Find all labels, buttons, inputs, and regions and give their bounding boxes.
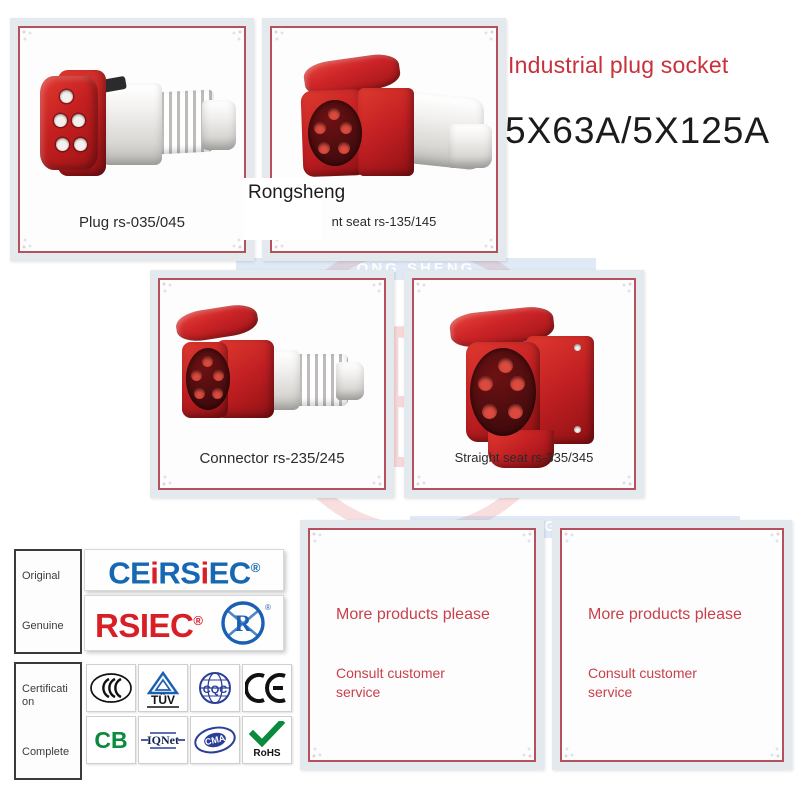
corner-ornament-icon — [311, 531, 327, 547]
promo-headline: More products please — [588, 606, 742, 624]
corner-ornament-icon — [367, 471, 383, 487]
spec-rating: 5X63A/5X125A — [505, 110, 770, 152]
cqc-mark-icon: CQC — [193, 668, 237, 708]
cert-mark-tuv: TÜV — [138, 664, 188, 712]
corner-ornament-icon — [161, 471, 177, 487]
product-card-frame: Plug rs-035/045 — [18, 26, 246, 253]
certification-tag-line-1: Certificati on — [16, 683, 80, 709]
ce-mark-icon — [245, 671, 289, 705]
cert-mark-rohs: RoHS — [242, 716, 292, 764]
authenticity-tag-line-1: Original — [16, 570, 60, 583]
promo-subline: Consult customer service — [588, 664, 738, 702]
corner-ornament-icon — [21, 234, 37, 250]
corner-ornament-icon — [311, 743, 327, 759]
brand-logo-ceirsiec: CEiRSiEC® — [84, 549, 284, 591]
certification-tag: Certificati on Complete — [14, 662, 82, 780]
product-caption-straight-seat: Straight seat rs-335/345 — [414, 450, 634, 465]
promo-card-frame: More products please Consult customer se… — [560, 528, 784, 762]
brand-logo-ceirsiec-text: CEiRSiEC® — [108, 552, 260, 588]
cert-mark-cb: CB — [86, 716, 136, 764]
product-card-connector[interactable]: Connector rs-235/245 — [150, 270, 394, 498]
tuv-mark-icon: TÜV — [141, 667, 185, 709]
cert-mark-cqc: CQC — [190, 664, 240, 712]
corner-ornament-icon — [415, 281, 431, 297]
rsiec-circular-logo-icon: R ® — [216, 598, 272, 648]
corner-ornament-icon — [563, 743, 579, 759]
svg-text:IQNet: IQNet — [147, 733, 179, 747]
corner-ornament-icon — [415, 471, 431, 487]
corner-ornament-icon — [273, 29, 289, 45]
corner-ornament-icon — [479, 29, 495, 45]
corner-ornament-icon — [617, 281, 633, 297]
brand-logo-rsiec: RSIEC® R ® — [84, 595, 284, 651]
product-caption-connector: Connector rs-235/245 — [160, 450, 384, 467]
cert-mark-ccc — [86, 664, 136, 712]
svg-text:CQC: CQC — [203, 684, 228, 696]
brand-logo-rsiec-text: RSIEC® — [95, 604, 202, 642]
certification-block: Original Genuine CEiRSiEC® RSIEC® R ® Ce… — [0, 540, 300, 790]
corner-ornament-icon — [765, 531, 781, 547]
product-card-frame: Connector rs-235/245 — [158, 278, 386, 490]
corner-ornament-icon — [563, 531, 579, 547]
promo-card-2[interactable]: More products please Consult customer se… — [552, 520, 792, 770]
corner-ornament-icon — [765, 743, 781, 759]
corner-ornament-icon — [479, 234, 495, 250]
svg-text:TÜV: TÜV — [151, 692, 175, 707]
overlay-brand-label: Rongsheng — [244, 178, 322, 240]
corner-ornament-icon — [161, 281, 177, 297]
rohs-mark-label: RoHS — [253, 748, 280, 759]
certification-tag-line-2: Complete — [16, 746, 69, 759]
svg-text:CMA: CMA — [204, 733, 227, 747]
rohs-mark-icon — [249, 721, 285, 747]
cb-mark-icon: CB — [94, 727, 127, 754]
corner-ornament-icon — [227, 29, 243, 45]
promo-card-frame: More products please Consult customer se… — [308, 528, 536, 762]
cert-mark-iqnet: IQNet — [138, 716, 188, 764]
ccc-mark-icon — [89, 671, 133, 705]
svg-text:R: R — [235, 611, 252, 636]
page-title: Industrial plug socket — [508, 52, 728, 79]
corner-ornament-icon — [227, 234, 243, 250]
product-card-plug[interactable]: Plug rs-035/045 — [10, 18, 254, 261]
authenticity-tag: Original Genuine — [14, 549, 82, 654]
svg-text:®: ® — [265, 603, 271, 612]
product-card-frame: Straight seat rs-335/345 — [412, 278, 636, 490]
promo-subline: Consult customer service — [336, 664, 486, 702]
cma-mark-icon: CMA — [192, 724, 238, 756]
authenticity-tag-line-2: Genuine — [16, 620, 64, 633]
iqnet-mark-icon: IQNet — [139, 726, 187, 754]
corner-ornament-icon — [21, 29, 37, 45]
corner-ornament-icon — [617, 471, 633, 487]
corner-ornament-icon — [367, 281, 383, 297]
corner-ornament-icon — [517, 531, 533, 547]
cert-mark-ce — [242, 664, 292, 712]
promo-card-1[interactable]: More products please Consult customer se… — [300, 520, 544, 770]
product-card-straight-seat[interactable]: Straight seat rs-335/345 — [404, 270, 644, 498]
promo-headline: More products please — [336, 606, 490, 624]
product-catalog-image: R 荣盛 ONG SHENG ONG SHENG ® ® Industrial … — [0, 0, 800, 800]
product-caption-plug: Plug rs-035/045 — [20, 214, 244, 231]
cert-mark-cma: CMA — [190, 716, 240, 764]
corner-ornament-icon — [517, 743, 533, 759]
